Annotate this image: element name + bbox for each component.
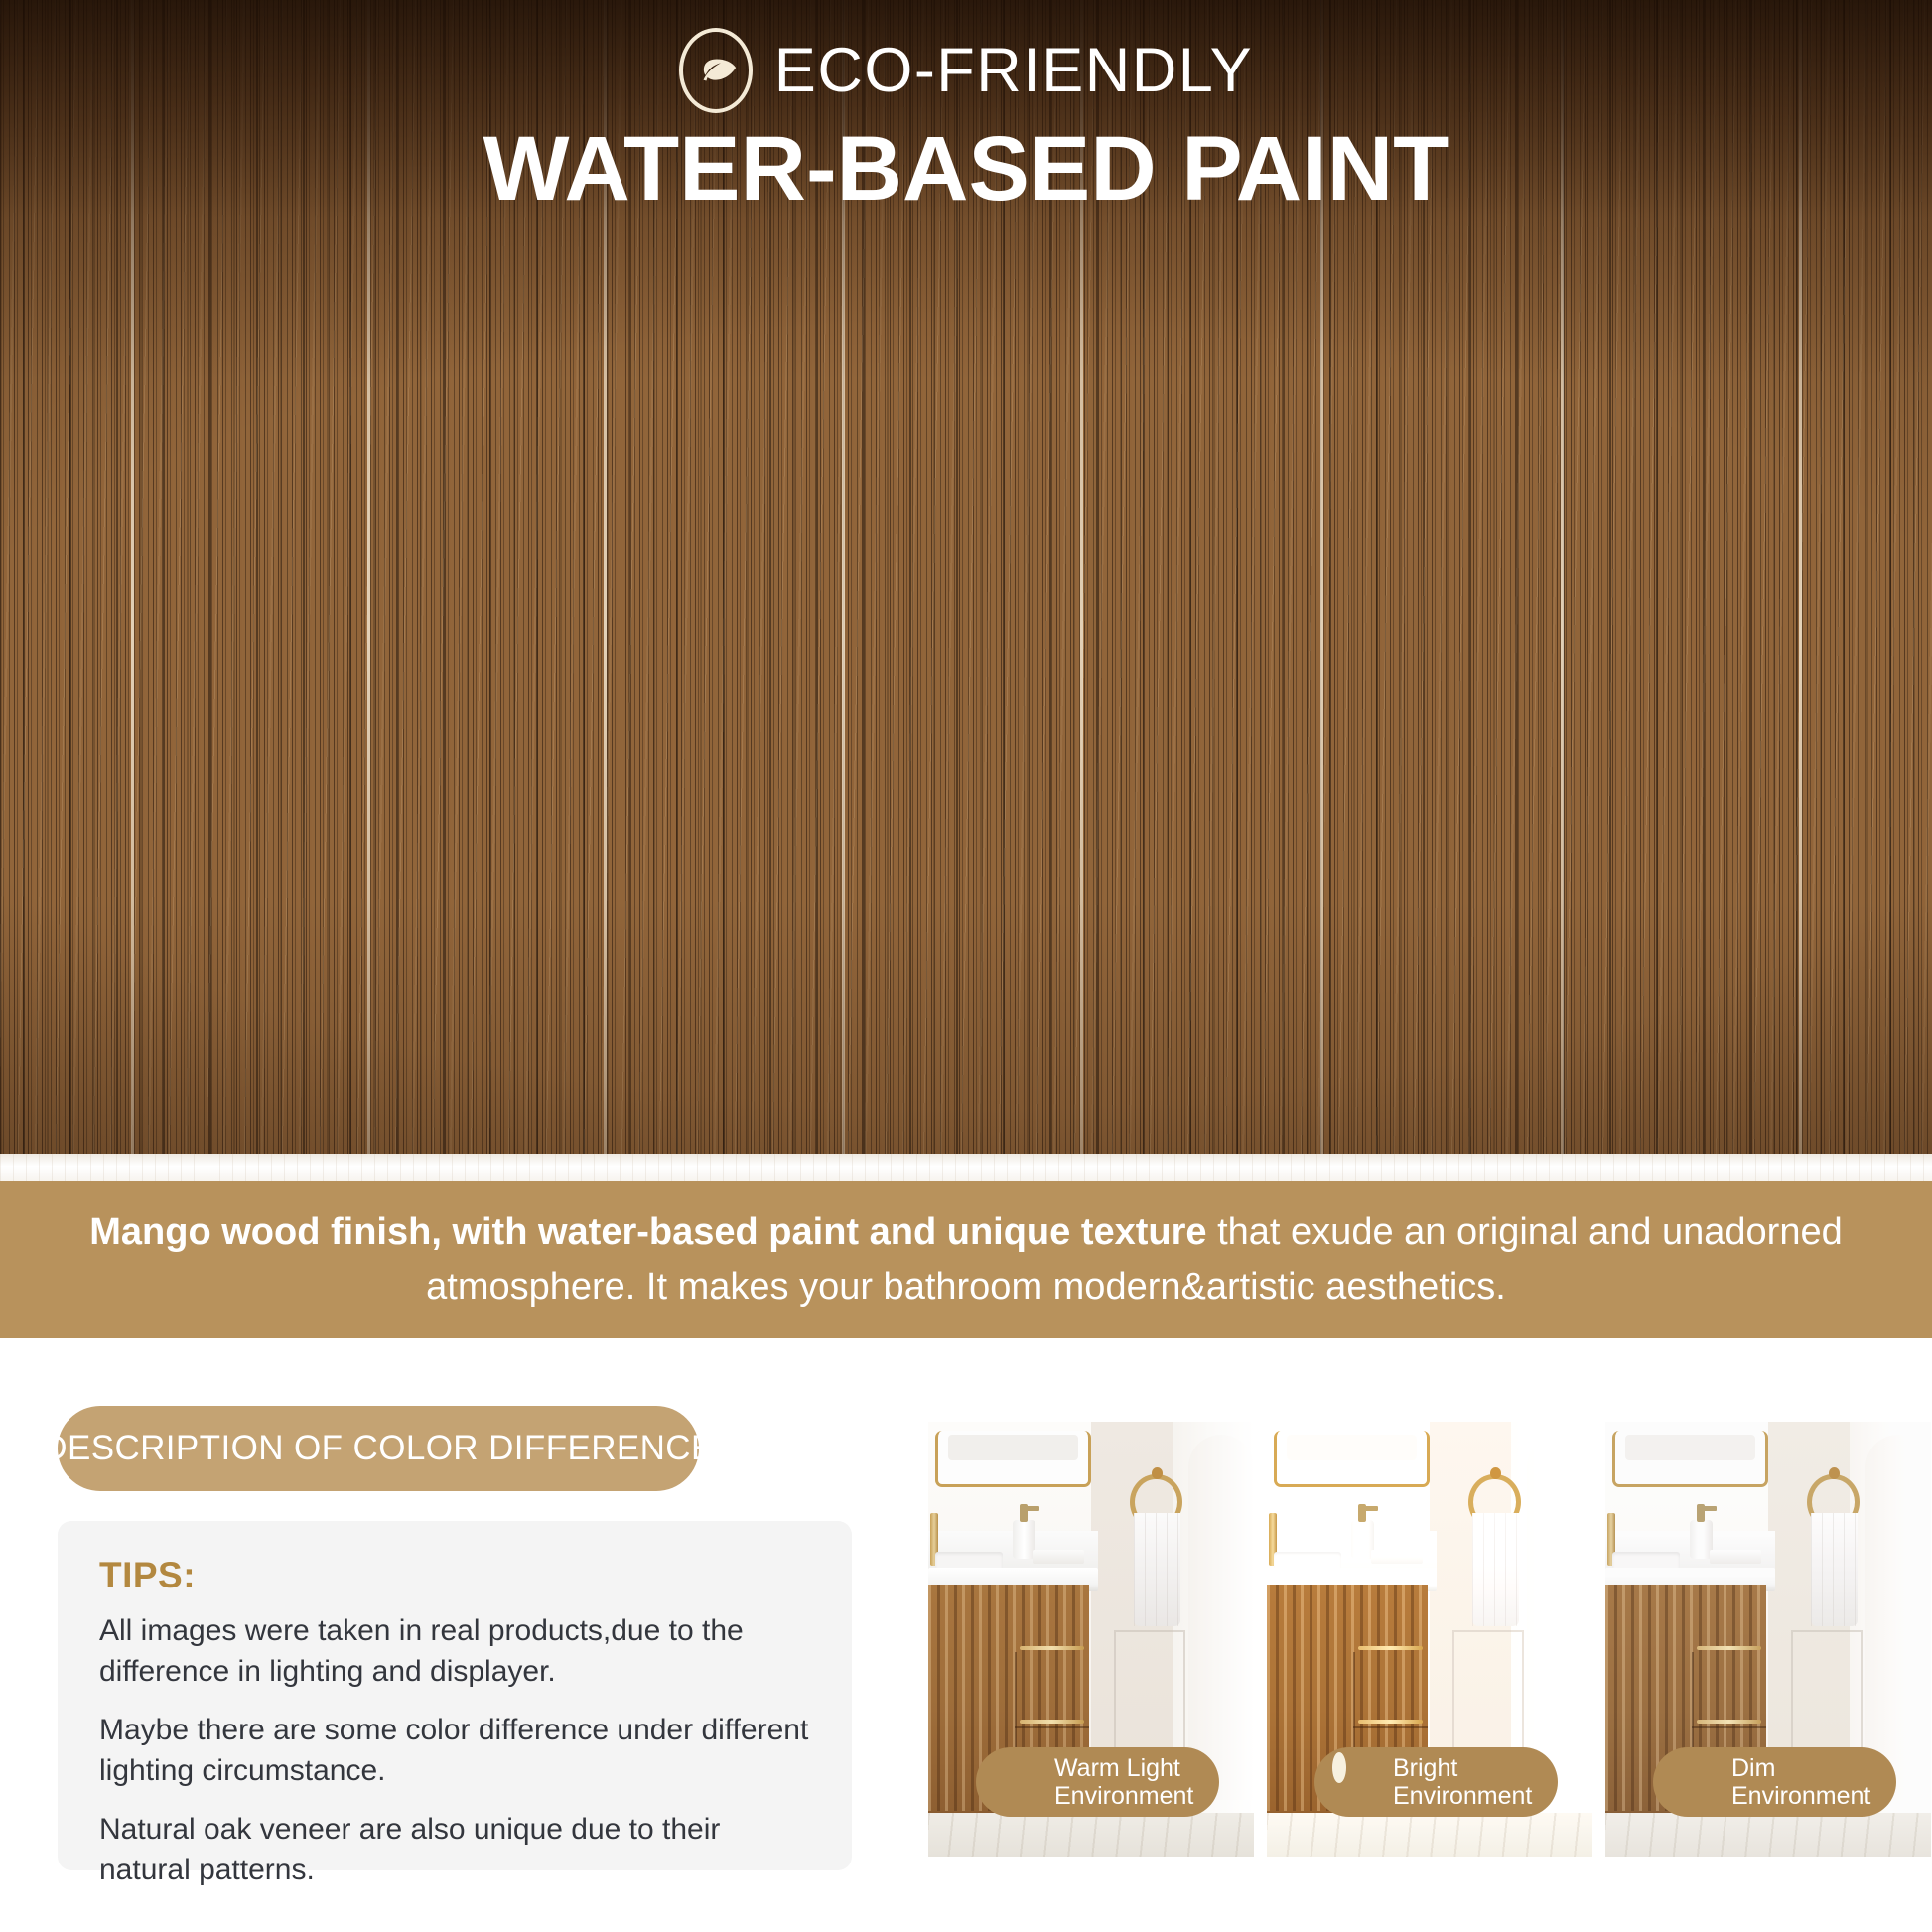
banner-text: Mango wood finish, with water-based pain… bbox=[33, 1205, 1899, 1314]
thumbnail-warm-light[interactable]: Warm Light Environment bbox=[928, 1422, 1254, 1857]
hero-wood-texture-panel: ECO-FRIENDLY WATER-BASED PAINT bbox=[0, 0, 1932, 1154]
tips-paragraph: All images were taken in real products,d… bbox=[99, 1610, 810, 1693]
half-filled-circle-icon bbox=[994, 1759, 1039, 1805]
color-difference-heading-label: DESCRIPTION OF COLOR DIFFERENCE bbox=[42, 1429, 714, 1468]
ring-circle-icon bbox=[1332, 1759, 1378, 1805]
description-banner: Mango wood finish, with water-based pain… bbox=[0, 1181, 1932, 1338]
page-title: WATER-BASED PAINT bbox=[483, 121, 1449, 217]
tips-paragraph: Natural oak veneer are also unique due t… bbox=[99, 1809, 810, 1891]
badge-dim: Dim Environment bbox=[1653, 1747, 1896, 1817]
badge-label: Bright Environment bbox=[1393, 1754, 1532, 1810]
eco-friendly-row: ECO-FRIENDLY bbox=[679, 28, 1253, 113]
badge-bright: Bright Environment bbox=[1314, 1747, 1558, 1817]
lighting-comparison-gallery: Warm Light Environment bbox=[928, 1422, 1932, 1888]
tips-title: TIPS: bbox=[99, 1555, 810, 1596]
filled-circle-icon bbox=[1671, 1759, 1717, 1805]
product-infographic-page: ECO-FRIENDLY WATER-BASED PAINT Mango woo… bbox=[0, 0, 1932, 1932]
badge-warm-light: Warm Light Environment bbox=[976, 1747, 1219, 1817]
tips-card: TIPS: All images were taken in real prod… bbox=[58, 1521, 852, 1870]
thumbnail-bright[interactable]: Bright Environment bbox=[1267, 1422, 1592, 1857]
hero-header: ECO-FRIENDLY WATER-BASED PAINT bbox=[0, 28, 1932, 217]
tips-paragraph: Maybe there are some color difference un… bbox=[99, 1710, 810, 1792]
banner-bold-text: Mango wood finish, with water-based pain… bbox=[89, 1211, 1206, 1253]
badge-label: Warm Light Environment bbox=[1054, 1754, 1193, 1810]
eco-friendly-label: ECO-FRIENDLY bbox=[774, 40, 1253, 102]
white-separator-strip bbox=[0, 1154, 1932, 1181]
thumbnail-dim[interactable]: Dim Environment bbox=[1605, 1422, 1931, 1857]
color-difference-heading-pill: DESCRIPTION OF COLOR DIFFERENCE bbox=[58, 1406, 699, 1491]
badge-label: Dim Environment bbox=[1731, 1754, 1870, 1810]
leaf-icon bbox=[679, 28, 753, 113]
